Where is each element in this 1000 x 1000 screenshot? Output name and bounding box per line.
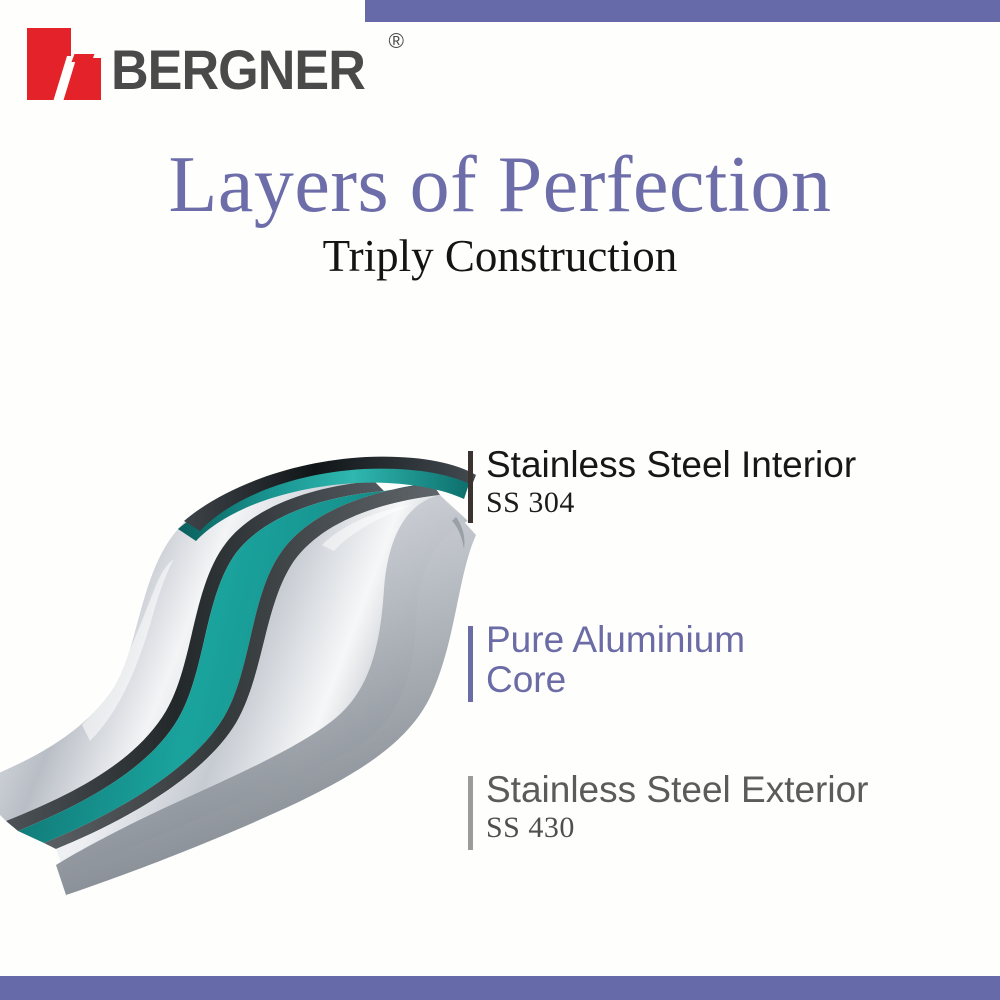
registered-trademark-icon: ® [389, 30, 404, 54]
brand-logo: BERGNER ® [27, 28, 384, 100]
layer-label-interior: Stainless Steel Interior SS 304 [468, 445, 856, 523]
brand-wordmark-wrap: BERGNER ® [111, 42, 384, 100]
layer-label-exterior: Stainless Steel Exterior SS 430 [468, 770, 869, 850]
layer-tick-core [468, 626, 473, 702]
bottom-accent-bar [0, 976, 1000, 1000]
poster-canvas: BERGNER ® Layers of Perfection Triply Co… [0, 0, 1000, 1000]
layer-grade-exterior: SS 430 [486, 811, 869, 845]
layer-title-interior: Stainless Steel Interior [486, 445, 856, 485]
cookware-cross-section-image [0, 425, 490, 905]
layer-grade-interior: SS 304 [486, 486, 856, 520]
page-subtitle: Triply Construction [0, 229, 1000, 283]
layer-title-exterior: Stainless Steel Exterior [486, 770, 869, 810]
bergner-logo-mark-icon [27, 28, 101, 100]
layer-title-core: Pure Aluminium Core [486, 620, 816, 700]
top-accent-bar [365, 0, 1000, 22]
layer-label-core: Pure Aluminium Core [468, 620, 816, 702]
page-title: Layers of Perfection [0, 145, 1000, 227]
layer-tick-exterior [468, 776, 473, 850]
headline-block: Layers of Perfection Triply Construction [0, 145, 1000, 283]
brand-wordmark: BERGNER [111, 42, 365, 98]
layer-tick-interior [468, 451, 473, 523]
